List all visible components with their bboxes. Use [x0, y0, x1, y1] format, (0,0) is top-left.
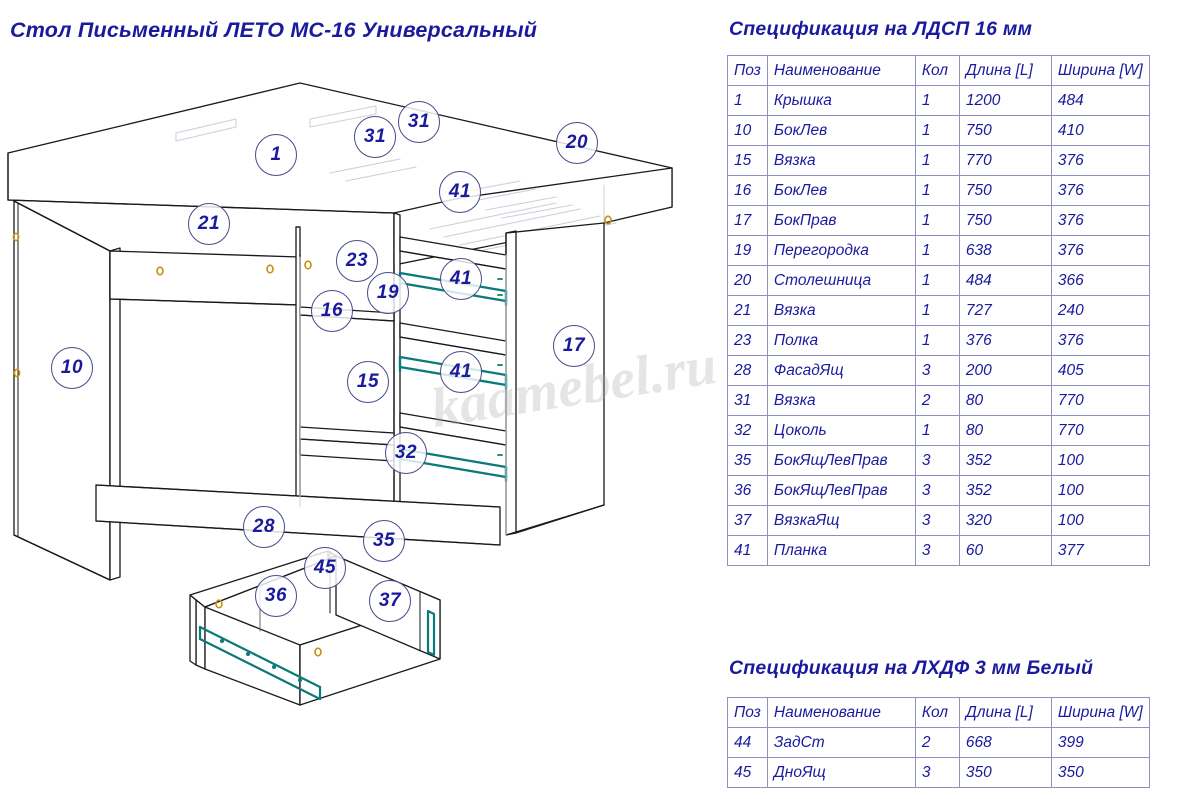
cell-width: 399 [1051, 728, 1149, 758]
cell-name: Столешница [767, 266, 915, 296]
cell-name: Вязка [767, 296, 915, 326]
cell-width: 376 [1051, 236, 1149, 266]
cell-name: Перегородка [767, 236, 915, 266]
cell-length: 484 [959, 266, 1051, 296]
table-row: 17БокПрав1750376 [728, 206, 1150, 236]
left-side-panel-10 [14, 201, 110, 580]
table-row: 37ВязкаЯщ3320100 [728, 506, 1150, 536]
cell-pos: 32 [728, 416, 768, 446]
cell-length: 350 [959, 758, 1051, 788]
spec-table-lhdf: Поз Наименование Кол Длина [L] Ширина [W… [727, 697, 1150, 788]
cell-pos: 19 [728, 236, 768, 266]
table-row: 19Перегородка1638376 [728, 236, 1150, 266]
cell-qty: 1 [915, 146, 959, 176]
cell-name: ЗадСт [767, 728, 915, 758]
cell-qty: 3 [915, 758, 959, 788]
cell-pos: 15 [728, 146, 768, 176]
cell-width: 100 [1051, 506, 1149, 536]
center-left-panel-16 [296, 227, 300, 507]
cell-name: ДноЯщ [767, 758, 915, 788]
table-header-row: Поз Наименование Кол Длина [L] Ширина [W… [728, 56, 1150, 86]
cell-name: ФасадЯщ [767, 356, 915, 386]
header-name: Наименование [767, 56, 915, 86]
callout-32: 32 [385, 432, 427, 474]
cell-pos: 1 [728, 86, 768, 116]
callout-41-b: 41 [440, 258, 482, 300]
cell-length: 1200 [959, 86, 1051, 116]
cell-name: Крышка [767, 86, 915, 116]
header-name: Наименование [767, 698, 915, 728]
cell-length: 727 [959, 296, 1051, 326]
callout-31-a: 31 [354, 116, 396, 158]
cell-length: 376 [959, 326, 1051, 356]
table-row: 20Столешница1484366 [728, 266, 1150, 296]
table-row: 16БокЛев1750376 [728, 176, 1150, 206]
cell-pos: 41 [728, 536, 768, 566]
cell-pos: 10 [728, 116, 768, 146]
callout-15: 15 [347, 361, 389, 403]
cell-width: 376 [1051, 146, 1149, 176]
table-row: 41Планка360377 [728, 536, 1150, 566]
callout-16: 16 [311, 290, 353, 332]
assembly-drawing-page: Стол Письменный ЛЕТО МС-16 Универсальный… [0, 0, 1180, 799]
spec2-title: Спецификация на ЛХДФ 3 мм Белый [729, 657, 1093, 680]
cell-name: БокЯщЛевПрав [767, 446, 915, 476]
callout-31-b: 31 [398, 101, 440, 143]
cell-pos: 28 [728, 356, 768, 386]
table-row: 32Цоколь180770 [728, 416, 1150, 446]
cell-pos: 37 [728, 506, 768, 536]
cell-qty: 1 [915, 116, 959, 146]
cell-width: 376 [1051, 176, 1149, 206]
callout-23: 23 [336, 240, 378, 282]
cell-name: Планка [767, 536, 915, 566]
cell-qty: 1 [915, 266, 959, 296]
cell-width: 484 [1051, 86, 1149, 116]
cell-qty: 3 [915, 446, 959, 476]
header-length: Длина [L] [959, 698, 1051, 728]
table-header-row: Поз Наименование Кол Длина [L] Ширина [W… [728, 698, 1150, 728]
cell-qty: 3 [915, 536, 959, 566]
header-qty: Кол [915, 698, 959, 728]
cell-pos: 20 [728, 266, 768, 296]
callout-21: 21 [188, 203, 230, 245]
cell-qty: 1 [915, 236, 959, 266]
spec-table-ldsp: Поз Наименование Кол Длина [L] Ширина [W… [727, 55, 1150, 566]
callout-28: 28 [243, 506, 285, 548]
cell-qty: 1 [915, 296, 959, 326]
cell-length: 80 [959, 386, 1051, 416]
cell-length: 750 [959, 116, 1051, 146]
cell-pos: 31 [728, 386, 768, 416]
callout-41-c: 41 [440, 351, 482, 393]
cell-length: 750 [959, 206, 1051, 236]
cell-qty: 1 [915, 206, 959, 236]
cell-width: 770 [1051, 386, 1149, 416]
furniture-assembly-drawing: 1 31 31 20 21 41 23 41 19 16 17 10 41 15… [0, 55, 716, 755]
cell-width: 405 [1051, 356, 1149, 386]
callout-1: 1 [255, 134, 297, 176]
header-qty: Кол [915, 56, 959, 86]
cell-name: ВязкаЯщ [767, 506, 915, 536]
callout-10: 10 [51, 347, 93, 389]
callout-20: 20 [556, 122, 598, 164]
cell-qty: 2 [915, 386, 959, 416]
callout-17: 17 [553, 325, 595, 367]
cell-qty: 1 [915, 326, 959, 356]
table-row: 28ФасадЯщ3200405 [728, 356, 1150, 386]
header-pos: Поз [728, 698, 768, 728]
cell-length: 352 [959, 476, 1051, 506]
cell-pos: 16 [728, 176, 768, 206]
callout-35: 35 [363, 520, 405, 562]
cell-pos: 44 [728, 728, 768, 758]
header-length: Длина [L] [959, 56, 1051, 86]
table-row: 23Полка1376376 [728, 326, 1150, 356]
cell-qty: 2 [915, 728, 959, 758]
cell-length: 638 [959, 236, 1051, 266]
cell-length: 668 [959, 728, 1051, 758]
cell-width: 100 [1051, 446, 1149, 476]
cell-qty: 1 [915, 416, 959, 446]
header-pos: Поз [728, 56, 768, 86]
cell-length: 200 [959, 356, 1051, 386]
cell-qty: 3 [915, 476, 959, 506]
callout-37: 37 [369, 580, 411, 622]
cell-name: БокЛев [767, 176, 915, 206]
bottom-tie-panel-15 [300, 427, 394, 461]
apron-panel-21 [110, 251, 300, 305]
cell-qty: 1 [915, 86, 959, 116]
table-row: 31Вязка280770 [728, 386, 1150, 416]
cell-width: 376 [1051, 326, 1149, 356]
cell-length: 770 [959, 146, 1051, 176]
callout-45: 45 [304, 547, 346, 589]
spec1-title: Спецификация на ЛДСП 16 мм [729, 18, 1032, 41]
cell-width: 350 [1051, 758, 1149, 788]
cell-qty: 3 [915, 506, 959, 536]
callout-41-a: 41 [439, 171, 481, 213]
cell-qty: 3 [915, 356, 959, 386]
slide-fittings [498, 279, 502, 455]
cell-length: 80 [959, 416, 1051, 446]
cell-width: 100 [1051, 476, 1149, 506]
cell-name: Вязка [767, 386, 915, 416]
cell-name: Полка [767, 326, 915, 356]
cell-pos: 36 [728, 476, 768, 506]
cell-pos: 17 [728, 206, 768, 236]
page-title: Стол Письменный ЛЕТО МС-16 Универсальный [10, 18, 537, 43]
cell-name: БокЯщЛевПрав [767, 476, 915, 506]
table-row: 21Вязка1727240 [728, 296, 1150, 326]
cell-pos: 23 [728, 326, 768, 356]
cell-name: Цоколь [767, 416, 915, 446]
header-width: Ширина [W] [1051, 698, 1149, 728]
table-row: 36БокЯщЛевПрав3352100 [728, 476, 1150, 506]
cell-width: 366 [1051, 266, 1149, 296]
table-row: 1Крышка11200484 [728, 86, 1150, 116]
cell-length: 352 [959, 446, 1051, 476]
callout-36: 36 [255, 575, 297, 617]
callout-19: 19 [367, 272, 409, 314]
header-width: Ширина [W] [1051, 56, 1149, 86]
divider-panel-19 [394, 213, 400, 533]
table-row: 45ДноЯщ3350350 [728, 758, 1150, 788]
cell-pos: 35 [728, 446, 768, 476]
cell-length: 750 [959, 176, 1051, 206]
cell-width: 410 [1051, 116, 1149, 146]
table-row: 15Вязка1770376 [728, 146, 1150, 176]
table-row: 35БокЯщЛевПрав3352100 [728, 446, 1150, 476]
cell-width: 770 [1051, 416, 1149, 446]
cell-width: 240 [1051, 296, 1149, 326]
right-side-panel-17 [506, 223, 604, 535]
cell-pos: 21 [728, 296, 768, 326]
cell-pos: 45 [728, 758, 768, 788]
cell-width: 377 [1051, 536, 1149, 566]
cell-name: БокЛев [767, 116, 915, 146]
cell-qty: 1 [915, 176, 959, 206]
cell-name: БокПрав [767, 206, 915, 236]
table-row: 10БокЛев1750410 [728, 116, 1150, 146]
cell-length: 60 [959, 536, 1051, 566]
desk-isometric-svg [0, 55, 716, 755]
table-row: 44ЗадСт2668399 [728, 728, 1150, 758]
cell-length: 320 [959, 506, 1051, 536]
cell-name: Вязка [767, 146, 915, 176]
cell-width: 376 [1051, 206, 1149, 236]
